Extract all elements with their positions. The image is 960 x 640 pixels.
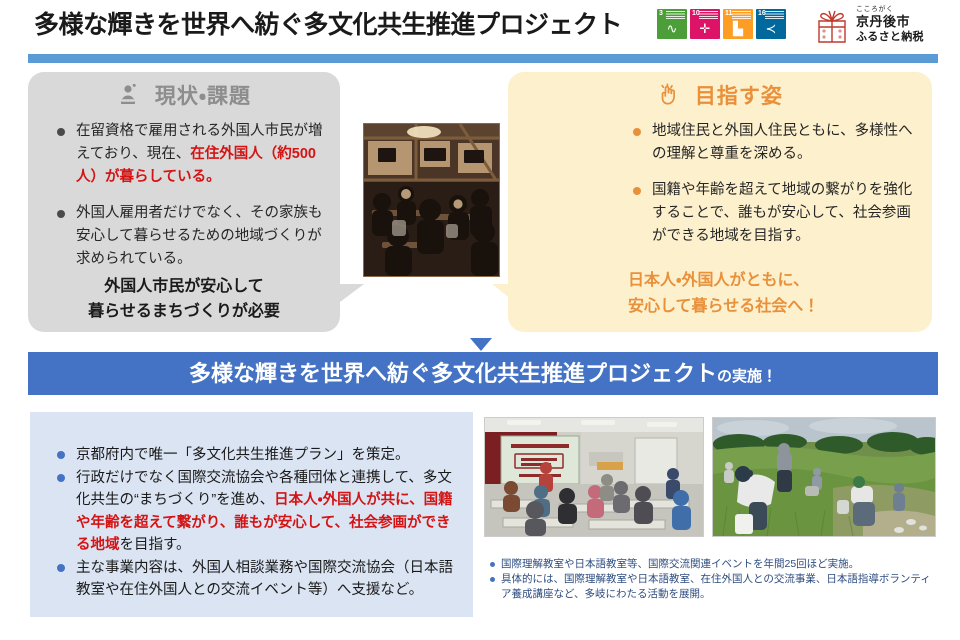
- banner-text: 多様な輝きを世界へ紡ぐ多文化共生推進プロジェクトの実施！: [28, 359, 938, 392]
- closing-line-1: 外国人市民が安心して: [28, 274, 340, 299]
- closing-line-1: 日本人・外国人がともに、: [628, 268, 928, 294]
- slide-root: 多様な輝きを世界へ紡ぐ多文化共生推進プロジェクト 3 ∿ 10 ✛ 11 ▙ 1…: [0, 0, 960, 640]
- activity-notes-list: 国際理解教室や日本語教室等、国際交流関連イベントを年間25回ほど実施。 具体的に…: [488, 557, 940, 602]
- cleanup-photo-art: [713, 418, 935, 536]
- city-logo: こころがく 京丹後市 ふるさと納税: [812, 4, 944, 48]
- sdg-number: 3: [659, 10, 663, 18]
- bullet-text: 国籍や年齢を超えて地域の繋がりを強化することで、誰もが安心して、社会参画ができる…: [652, 182, 912, 244]
- sdg-icon-3: 3 ∿: [657, 9, 687, 39]
- sdg-icon-16: 16 ≺: [756, 9, 786, 39]
- current-issues-closing: 外国人市民が安心して 暮らせるまちづくりが必要: [28, 274, 340, 324]
- list-item: 国籍や年齢を超えて地域の繋がりを強化することで、誰もが安心して、社会参画ができる…: [628, 179, 913, 248]
- current-issues-panel: 現状・課題 在留資格で雇用される外国人市民が増えており、現在、在住外国人（約50…: [28, 72, 340, 332]
- goal-list: 地域住民と外国人住民ともに、多様性への理解と尊重を深める。 国籍や年齢を超えて地…: [628, 120, 913, 248]
- bullet-text: 京都府内で唯一「多文化共生推進プラン」を策定。: [76, 447, 410, 463]
- initiatives-list: 京都府内で唯一「多文化共生推進プラン」を策定。 行政だけでなく国際交流協会や各種…: [52, 444, 462, 602]
- list-item: 国際理解教室や日本語教室等、国際交流関連イベントを年間25回ほど実施。: [488, 557, 940, 572]
- person-thinking-icon: [117, 83, 141, 107]
- equality-arrows-icon: ✛: [690, 22, 720, 36]
- pointing-hand-icon: [657, 83, 681, 107]
- current-issues-list: 在留資格で雇用される外国人市民が増えており、現在、在住外国人（約500人）が暮ら…: [52, 120, 324, 271]
- page-title: 多様な輝きを世界へ紡ぐ多文化共生推進プロジェクト: [34, 9, 622, 41]
- list-item: 在留資格で雇用される外国人市民が増えており、現在、在住外国人（約500人）が暮ら…: [52, 120, 324, 189]
- list-item: 京都府内で唯一「多文化共生推進プラン」を策定。: [52, 444, 462, 467]
- closing-line-2: 暮らせるまちづくりが必要: [28, 299, 340, 324]
- list-item: 具体的には、国際理解教室や日本語教室、在住外国人との交流事業、日本語指導ボランテ…: [488, 572, 940, 602]
- goal-panel: 目指す姿 地域住民と外国人住民ともに、多様性への理解と尊重を深める。 国籍や年齢…: [508, 72, 932, 332]
- city-kana: こころがく: [856, 5, 924, 14]
- banner-suffix: の実施！: [717, 368, 777, 385]
- city-logo-text: こころがく 京丹後市 ふるさと納税: [856, 5, 924, 44]
- bullet-text: 外国人雇用者だけでなく、その家族も安心して暮らせるための地域づくりが求められてい…: [76, 205, 323, 267]
- banner-main: 多様な輝きを世界へ紡ぐ多文化共生推進プロジェクト: [189, 361, 717, 386]
- current-issues-heading: 現状・課題: [28, 80, 340, 110]
- sdg-icon-row: 3 ∿ 10 ✛ 11 ▙ 16 ≺: [657, 9, 786, 39]
- initiatives-body: 京都府内で唯一「多文化共生推進プラン」を策定。 行政だけでなく国際交流協会や各種…: [52, 444, 462, 602]
- project-banner: 多様な輝きを世界へ紡ぐ多文化共生推進プロジェクトの実施！: [28, 352, 938, 395]
- classroom-seminar-photo: [484, 417, 704, 537]
- peace-dove-icon: ≺: [756, 22, 786, 36]
- list-item: 行政だけでなく国際交流協会や各種団体と連携して、多文化共生の“まちづくり”を進め…: [52, 467, 462, 557]
- city-sub: ふるさと納税: [856, 30, 924, 44]
- header-divider: [28, 54, 938, 63]
- seminar-photo-art: [485, 418, 703, 536]
- list-item: 主な事業内容は、外国人相談業務や国際交流協会（日本語教室や在住外国人との交流イベ…: [52, 557, 462, 602]
- sdg-label-lines: [699, 11, 718, 19]
- bullet-text-tail: を目指す。: [120, 537, 191, 553]
- note-text: 国際理解教室や日本語教室等、国際交流関連イベントを年間25回ほど実施。: [501, 558, 859, 570]
- goal-body: 地域住民と外国人住民ともに、多様性への理解と尊重を深める。 国籍や年齢を超えて地…: [628, 120, 913, 261]
- banner-arrow-icon: [470, 338, 492, 351]
- health-pulse-icon: ∿: [657, 22, 687, 36]
- initiatives-panel: 京都府内で唯一「多文化共生推進プラン」を策定。 行政だけでなく国際交流協会や各種…: [30, 412, 473, 617]
- sdg-icon-10: 10 ✛: [690, 9, 720, 39]
- outdoor-cleanup-photo: [712, 417, 936, 537]
- closing-line-2: 安心して暮らせる社会へ！: [628, 294, 928, 320]
- current-issues-heading-text: 現状・課題: [155, 85, 251, 108]
- current-issues-body: 在留資格で雇用される外国人市民が増えており、現在、在住外国人（約500人）が暮ら…: [52, 120, 324, 284]
- sdg-icon-11: 11 ▙: [723, 9, 753, 39]
- city-name: 京丹後市: [856, 14, 924, 30]
- sdg-label-lines: [765, 11, 784, 19]
- city-buildings-icon: ▙: [723, 22, 753, 36]
- list-item: 外国人雇用者だけでなく、その家族も安心して暮らせるための地域づくりが求められてい…: [52, 202, 324, 271]
- list-item: 地域住民と外国人住民ともに、多様性への理解と尊重を深める。: [628, 120, 913, 166]
- activity-notes: 国際理解教室や日本語教室等、国際交流関連イベントを年間25回ほど実施。 具体的に…: [488, 557, 940, 602]
- note-text: 具体的には、国際理解教室や日本語教室、在住外国人との交流事業、日本語指導ボランテ…: [501, 573, 931, 600]
- bullet-text: 主な事業内容は、外国人相談業務や国際交流協会（日本語教室や在住外国人との交流イベ…: [76, 560, 453, 599]
- meeting-photo-art: [364, 124, 499, 276]
- sdg-label-lines: [666, 11, 685, 19]
- slide-header: 多様な輝きを世界へ紡ぐ多文化共生推進プロジェクト 3 ∿ 10 ✛ 11 ▙ 1…: [0, 0, 960, 52]
- gift-box-icon: [812, 6, 852, 46]
- goal-heading: 目指す姿: [508, 80, 932, 110]
- goal-heading-text: 目指す姿: [695, 85, 783, 108]
- sdg-label-lines: [732, 11, 751, 19]
- goal-closing: 日本人・外国人がともに、 安心して暮らせる社会へ！: [628, 268, 928, 320]
- bullet-text: 地域住民と外国人住民ともに、多様性への理解と尊重を深める。: [652, 123, 913, 162]
- community-meeting-photo: [363, 123, 500, 277]
